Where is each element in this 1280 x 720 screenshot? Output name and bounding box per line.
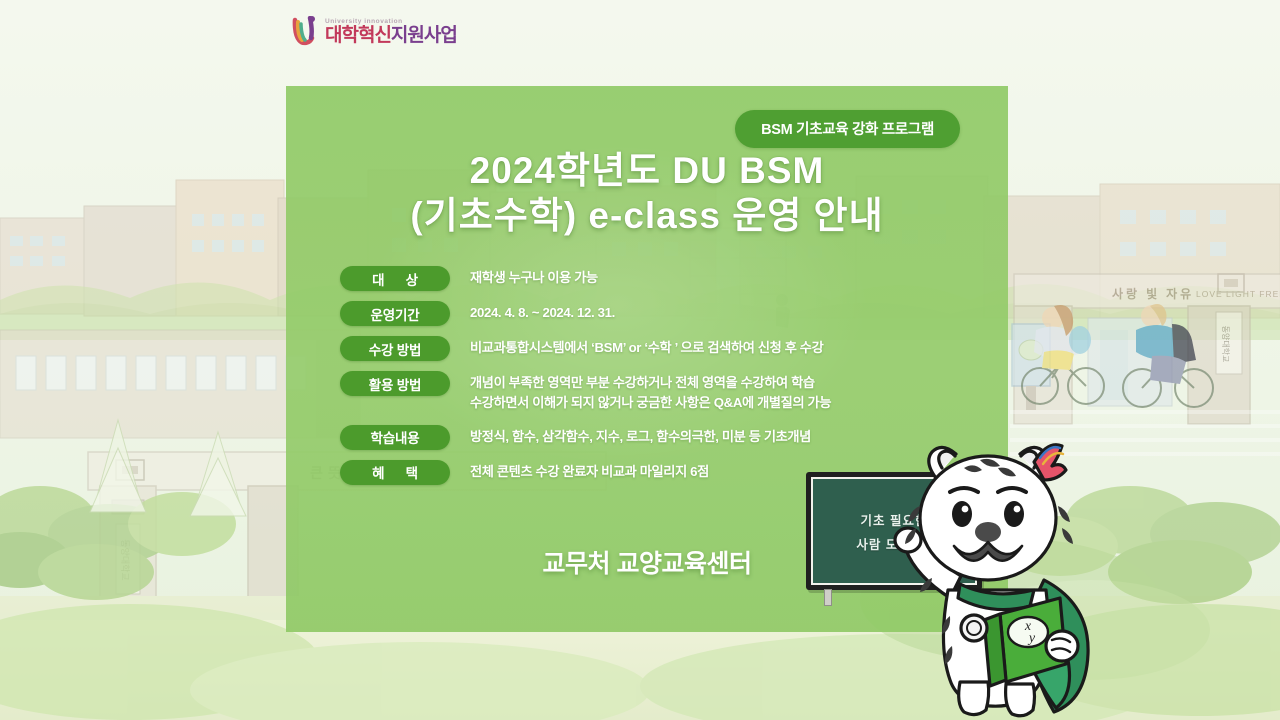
book-label-2: y <box>1027 631 1036 646</box>
info-row: 활용 방법 개념이 부족한 영역만 부분 수강하거나 전체 영역을 수강하여 학… <box>340 371 980 414</box>
u-mark-icon <box>292 16 318 46</box>
info-value-line: 2024. 4. 8. ~ 2024. 12. 31. <box>470 303 615 323</box>
logo-subtitle: University innovation <box>325 18 457 25</box>
white-tiger-mascot: x y <box>876 432 1126 720</box>
title-line-1: 2024학년도 DU BSM <box>286 148 1008 193</box>
info-value: 재학생 누구나 이용 가능 <box>470 266 598 288</box>
info-row: 수강 방법 비교과통합시스템에서 ‘BSM’ or ‘수학 ’ 으로 검색하여 … <box>340 336 980 361</box>
info-value-line: 재학생 누구나 이용 가능 <box>470 268 598 288</box>
info-label: 대 상 <box>340 266 450 291</box>
info-value-line: 수강하면서 이해가 되지 않거나 궁금한 사항은 Q&A에 개별질의 가능 <box>470 393 831 413</box>
program-logo: University innovation 대학혁신지원사업 <box>292 16 457 46</box>
info-value-line: 비교과통합시스템에서 ‘BSM’ or ‘수학 ’ 으로 검색하여 신청 후 수… <box>470 338 823 358</box>
info-value-line: 방정식, 함수, 삼각함수, 지수, 로그, 함수의극한, 미분 등 기초개념 <box>470 427 811 447</box>
info-label: 수강 방법 <box>340 336 450 361</box>
logo-title-part1: 대학혁신 <box>325 25 391 46</box>
blackboard-leg-left <box>824 589 832 606</box>
program-badge: BSM 기초교육 강화 프로그램 <box>735 110 960 148</box>
logo-title: 대학혁신지원사업 <box>325 26 457 45</box>
info-value-line: 전체 콘텐츠 수강 완료자 비교과 마일리지 6점 <box>470 462 709 482</box>
logo-title-part2: 지원사업 <box>391 25 457 46</box>
info-row: 대 상 재학생 누구나 이용 가능 <box>340 266 980 291</box>
poster-title: 2024학년도 DU BSM (기초수학) e-class 운영 안내 <box>286 148 1008 238</box>
info-value: 2024. 4. 8. ~ 2024. 12. 31. <box>470 301 615 323</box>
title-line-2: (기초수학) e-class 운영 안내 <box>286 193 1008 238</box>
svg-text:동양대학교: 동양대학교 <box>1221 326 1231 363</box>
info-value: 전체 콘텐츠 수강 완료자 비교과 마일리지 6점 <box>470 460 709 482</box>
svg-text:LOVE LIGHT FREEDOM: LOVE LIGHT FREEDOM <box>1196 289 1280 299</box>
info-value: 방정식, 함수, 삼각함수, 지수, 로그, 함수의극한, 미분 등 기초개념 <box>470 425 811 447</box>
info-value-line: 개념이 부족한 영역만 부분 수강하거나 전체 영역을 수강하여 학습 <box>470 373 831 393</box>
poster-canvas: 동양대학교 큰뜻을 품어라 사랑 빛 자유 LOVE LIGHT FREEDOM… <box>0 0 1280 720</box>
info-label: 혜 택 <box>340 460 450 485</box>
info-row: 운영기간 2024. 4. 8. ~ 2024. 12. 31. <box>340 301 980 326</box>
info-value: 비교과통합시스템에서 ‘BSM’ or ‘수학 ’ 으로 검색하여 신청 후 수… <box>470 336 823 358</box>
info-label: 활용 방법 <box>340 371 450 396</box>
info-value: 개념이 부족한 영역만 부분 수강하거나 전체 영역을 수강하여 학습 수강하면… <box>470 371 831 414</box>
info-label: 운영기간 <box>340 301 450 326</box>
info-label: 학습내용 <box>340 425 450 450</box>
svg-text:사랑 빛 자유: 사랑 빛 자유 <box>1112 286 1194 301</box>
